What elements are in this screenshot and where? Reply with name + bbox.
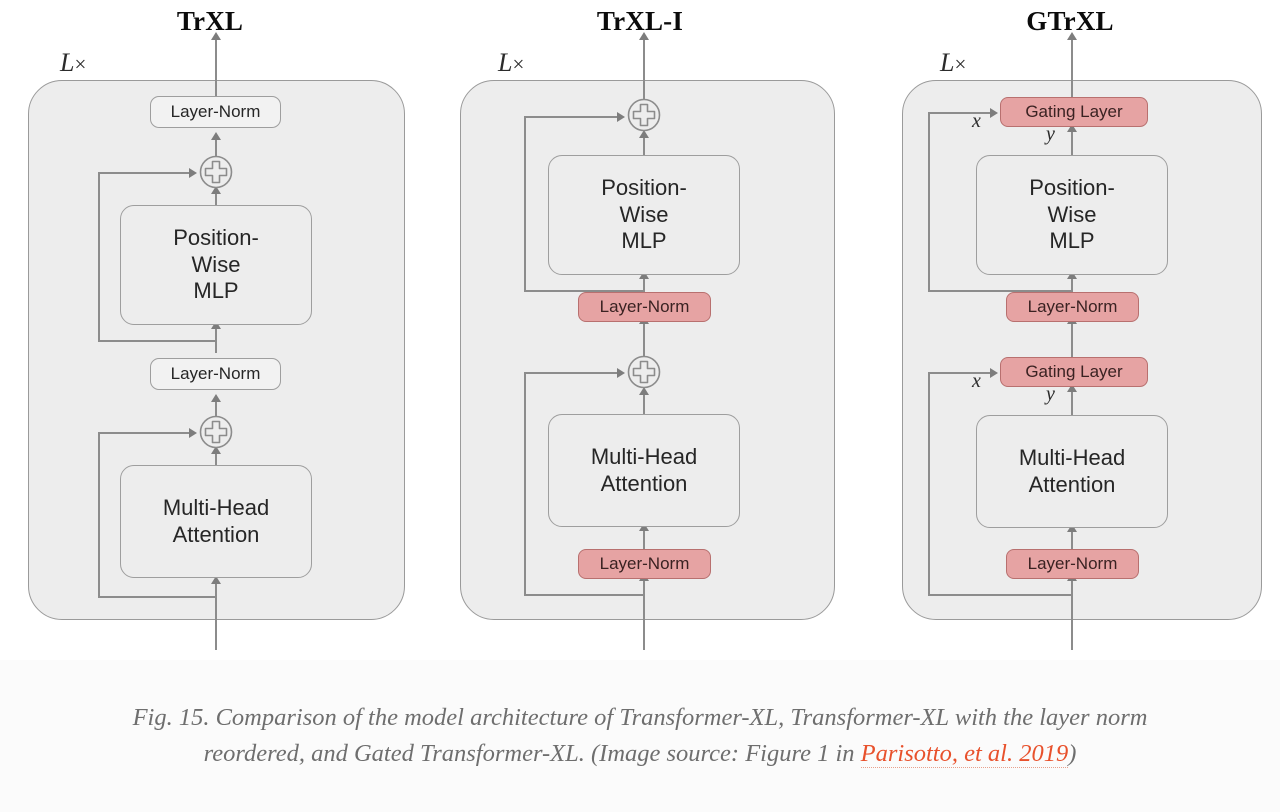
residual-1-bottom xyxy=(928,594,1073,596)
connector-ln-mid-to-gate-mid xyxy=(1071,320,1073,358)
arrowhead-icon xyxy=(990,368,998,378)
skip-connection-2-vertical xyxy=(98,172,100,341)
output-line xyxy=(215,36,217,96)
math-label-y-mid: y xyxy=(1046,383,1055,406)
node-label-line2: Attention xyxy=(601,471,688,498)
caption-link-parisotto[interactable]: Parisotto, et al. 2019 xyxy=(861,740,1069,768)
figure-diagram: TrXL L× Layer-Norm Position- Wise MLP xyxy=(0,0,1280,660)
loop-label-times: × xyxy=(954,52,966,76)
node-gating-layer-top: Gating Layer xyxy=(1000,97,1148,127)
caption-text: Fig. 15. Comparison of the model archite… xyxy=(80,700,1200,773)
skip-connection-1-top xyxy=(524,372,620,374)
math-label-y-top: y xyxy=(1046,123,1055,146)
node-multi-head-attention: Multi-Head Attention xyxy=(548,414,740,527)
node-layer-norm-mid: Layer-Norm xyxy=(578,292,711,322)
node-multi-head-attention: Multi-Head Attention xyxy=(120,465,312,578)
connector-ln-mid-to-mlp xyxy=(215,325,217,353)
loop-label-times: × xyxy=(74,52,86,76)
connector-mlp-to-gate xyxy=(1071,128,1073,158)
node-label-line3: MLP xyxy=(1049,228,1094,255)
skip-connection-2-vertical xyxy=(524,116,526,292)
node-label-line1: Position- xyxy=(1029,175,1115,202)
node-label: Layer-Norm xyxy=(600,554,690,575)
connector-mha-to-gate-mid xyxy=(1071,388,1073,418)
arrowhead-icon xyxy=(990,108,998,118)
caption-suffix: ) xyxy=(1068,740,1076,767)
input-line xyxy=(215,580,217,650)
arrowhead-icon xyxy=(617,368,625,378)
node-layer-norm-top: Layer-Norm xyxy=(150,96,281,128)
skip-connection-2-top xyxy=(524,116,620,118)
add-node-top xyxy=(199,155,233,189)
node-label-line3: MLP xyxy=(621,228,666,255)
add-node-mid xyxy=(627,355,661,389)
math-label-x-top: x xyxy=(972,110,981,133)
node-label-line1: Multi-Head xyxy=(1019,445,1125,472)
loop-label-gtrxl: L× xyxy=(940,48,966,78)
figure-caption: Fig. 15. Comparison of the model archite… xyxy=(0,660,1280,812)
loop-label-times: × xyxy=(512,52,524,76)
input-line xyxy=(643,577,645,650)
node-layer-norm-bottom: Layer-Norm xyxy=(1006,549,1139,579)
output-arrowhead-icon xyxy=(211,32,221,40)
node-label-line2: Wise xyxy=(1048,202,1097,229)
node-label: Layer-Norm xyxy=(1028,297,1118,318)
node-label-line1: Position- xyxy=(601,175,687,202)
arrowhead-icon xyxy=(211,132,221,140)
output-line xyxy=(643,36,645,100)
node-layer-norm-mid: Layer-Norm xyxy=(1006,292,1139,322)
output-arrowhead-icon xyxy=(639,32,649,40)
output-arrowhead-icon xyxy=(1067,32,1077,40)
node-label-line3: MLP xyxy=(193,278,238,305)
node-multi-head-attention: Multi-Head Attention xyxy=(976,415,1168,528)
x-input-line-top xyxy=(928,112,993,114)
connector-plus-to-ln-mid xyxy=(643,320,645,358)
loop-label-L: L xyxy=(60,48,74,77)
loop-label-trxl: L× xyxy=(60,48,86,78)
node-label: Layer-Norm xyxy=(171,102,261,123)
residual-2-vertical xyxy=(928,112,930,292)
node-label-line1: Multi-Head xyxy=(163,495,269,522)
arrowhead-icon xyxy=(211,394,221,402)
loop-label-L: L xyxy=(940,48,954,77)
node-position-wise-mlp: Position- Wise MLP xyxy=(548,155,740,275)
skip-connection-1-top xyxy=(98,432,192,434)
node-label-line2: Wise xyxy=(192,252,241,279)
node-layer-norm-bottom: Layer-Norm xyxy=(578,549,711,579)
node-label-line2: Attention xyxy=(1029,472,1116,499)
node-position-wise-mlp: Position- Wise MLP xyxy=(120,205,312,325)
skip-connection-2-bottom xyxy=(98,340,216,342)
add-node-mid xyxy=(199,415,233,449)
panel-trxl: TrXL L× Layer-Norm Position- Wise MLP xyxy=(0,0,420,660)
node-layer-norm-mid: Layer-Norm xyxy=(150,358,281,390)
node-position-wise-mlp: Position- Wise MLP xyxy=(976,155,1168,275)
node-label: Gating Layer xyxy=(1025,362,1122,383)
node-label-line2: Wise xyxy=(620,202,669,229)
input-line xyxy=(1071,577,1073,650)
skip-connection-1-bottom xyxy=(524,594,644,596)
node-label-line2: Attention xyxy=(173,522,260,549)
node-label-line1: Position- xyxy=(173,225,259,252)
arrowhead-icon xyxy=(189,428,197,438)
loop-label-trxl-i: L× xyxy=(498,48,524,78)
node-label: Layer-Norm xyxy=(1028,554,1118,575)
add-node-top xyxy=(627,98,661,132)
skip-connection-1-bottom xyxy=(98,596,216,598)
node-gating-layer-mid: Gating Layer xyxy=(1000,357,1148,387)
node-label-line1: Multi-Head xyxy=(591,444,697,471)
panel-title-trxl: TrXL xyxy=(0,6,420,37)
panel-gtrxl: GTrXL L× Gating Layer x y Position- Wise… xyxy=(860,0,1280,660)
arrowhead-icon xyxy=(617,112,625,122)
skip-connection-1-vertical xyxy=(98,432,100,597)
x-input-line-mid xyxy=(928,372,993,374)
skip-connection-2-top xyxy=(98,172,192,174)
residual-1-vertical xyxy=(928,372,930,596)
output-line xyxy=(1071,36,1073,100)
node-label: Layer-Norm xyxy=(600,297,690,318)
node-label: Layer-Norm xyxy=(171,364,261,385)
panel-trxl-i: TrXL-I L× Position- Wise MLP xyxy=(430,0,850,660)
skip-connection-1-vertical xyxy=(524,372,526,596)
loop-label-L: L xyxy=(498,48,512,77)
arrowhead-icon xyxy=(189,168,197,178)
math-label-x-mid: x xyxy=(972,370,981,393)
node-label: Gating Layer xyxy=(1025,102,1122,123)
